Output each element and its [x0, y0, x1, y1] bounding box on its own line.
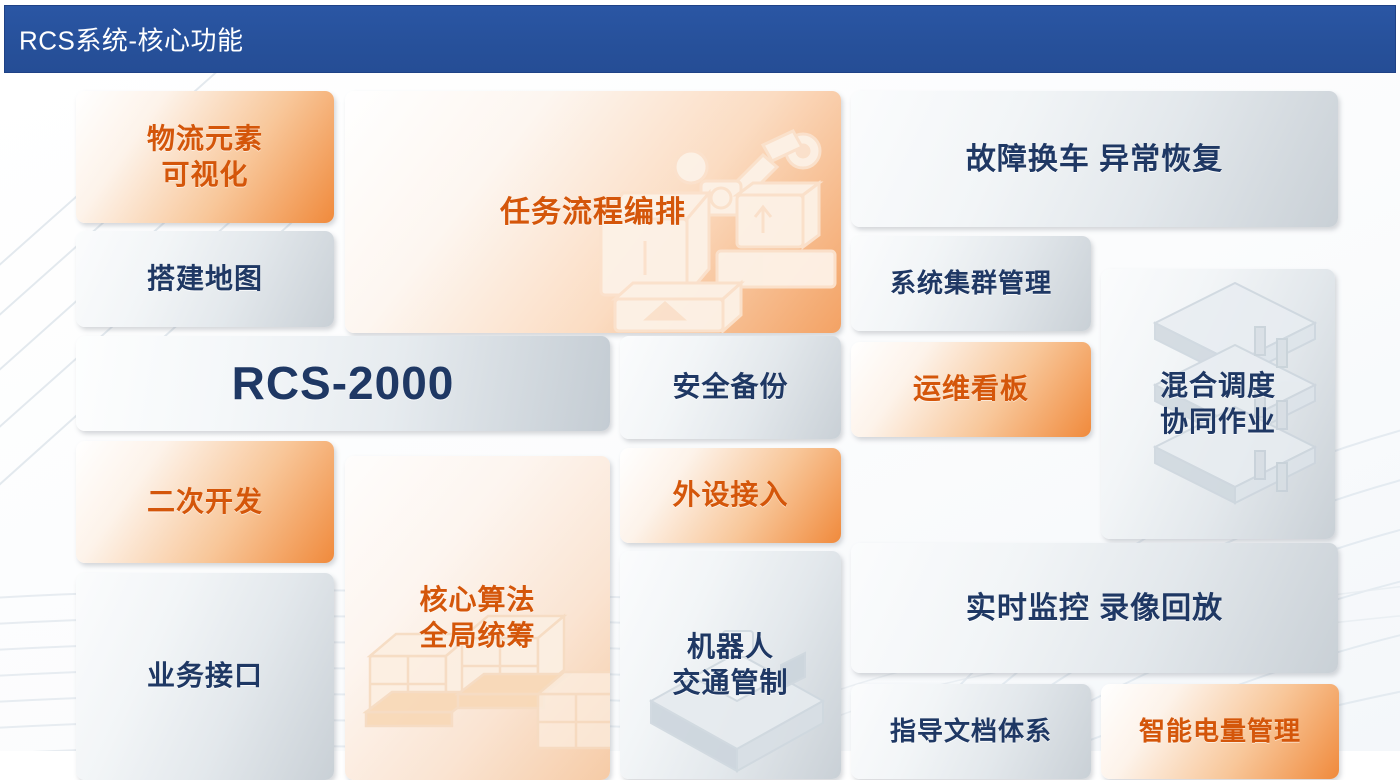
card-build-map[interactable]: 搭建地图 [76, 231, 334, 327]
card-label-core-algorithm: 核心算法 全局统筹 [419, 582, 535, 655]
card-secondary-development[interactable]: 二次开发 [76, 441, 334, 563]
card-label-secondary-development: 二次开发 [147, 484, 263, 520]
card-label-realtime-monitor: 实时监控 录像回放 [966, 589, 1223, 628]
card-label-fault-vehicle-swap: 故障换车 异常恢复 [966, 140, 1223, 179]
card-label-build-map: 搭建地图 [147, 261, 263, 297]
card-fault-vehicle-swap[interactable]: 故障换车 异常恢复 [851, 91, 1338, 227]
card-label-logistics-visualization: 物流元素 可视化 [147, 121, 263, 194]
page-title: RCS系统-核心功能 [19, 21, 244, 58]
card-label-system-cluster-mgmt: 系统集群管理 [890, 267, 1052, 301]
card-label-safe-backup: 安全备份 [672, 369, 788, 405]
card-ops-dashboard[interactable]: 运维看板 [851, 342, 1091, 437]
card-label-rcs-2000: RCS-2000 [232, 354, 455, 414]
card-system-cluster-mgmt[interactable]: 系统集群管理 [851, 236, 1091, 331]
card-realtime-monitor[interactable]: 实时监控 录像回放 [851, 543, 1338, 673]
card-robot-traffic-control[interactable]: 机器人 交通管制 [620, 551, 841, 779]
card-guidance-doc-system[interactable]: 指导文档体系 [851, 684, 1091, 779]
card-logistics-visualization[interactable]: 物流元素 可视化 [76, 91, 334, 223]
feature-card-board: 物流元素 可视化 任务 [0, 73, 1400, 751]
card-label-peripheral-access: 外设接入 [672, 477, 788, 513]
card-label-business-interface: 业务接口 [147, 658, 263, 694]
card-task-flow-orchestration[interactable]: 任务流程编排 [345, 91, 841, 333]
card-core-algorithm[interactable]: 核心算法 全局统筹 [345, 456, 610, 780]
card-peripheral-access[interactable]: 外设接入 [620, 448, 841, 543]
card-rcs-2000[interactable]: RCS-2000 [76, 336, 610, 431]
card-label-smart-power-mgmt: 智能电量管理 [1139, 715, 1301, 749]
card-label-robot-traffic-control: 机器人 交通管制 [672, 629, 788, 702]
card-business-interface[interactable]: 业务接口 [76, 573, 334, 780]
slide-title-bar: RCS系统-核心功能 [4, 5, 1396, 73]
card-hybrid-scheduling[interactable]: 混合调度 协同作业 [1101, 269, 1335, 539]
card-safe-backup[interactable]: 安全备份 [620, 336, 841, 439]
card-label-hybrid-scheduling: 混合调度 协同作业 [1160, 368, 1276, 441]
card-smart-power-mgmt[interactable]: 智能电量管理 [1101, 684, 1339, 779]
card-label-task-flow-orchestration: 任务流程编排 [500, 193, 686, 232]
card-label-ops-dashboard: 运维看板 [913, 371, 1029, 407]
card-label-guidance-doc-system: 指导文档体系 [890, 715, 1052, 749]
